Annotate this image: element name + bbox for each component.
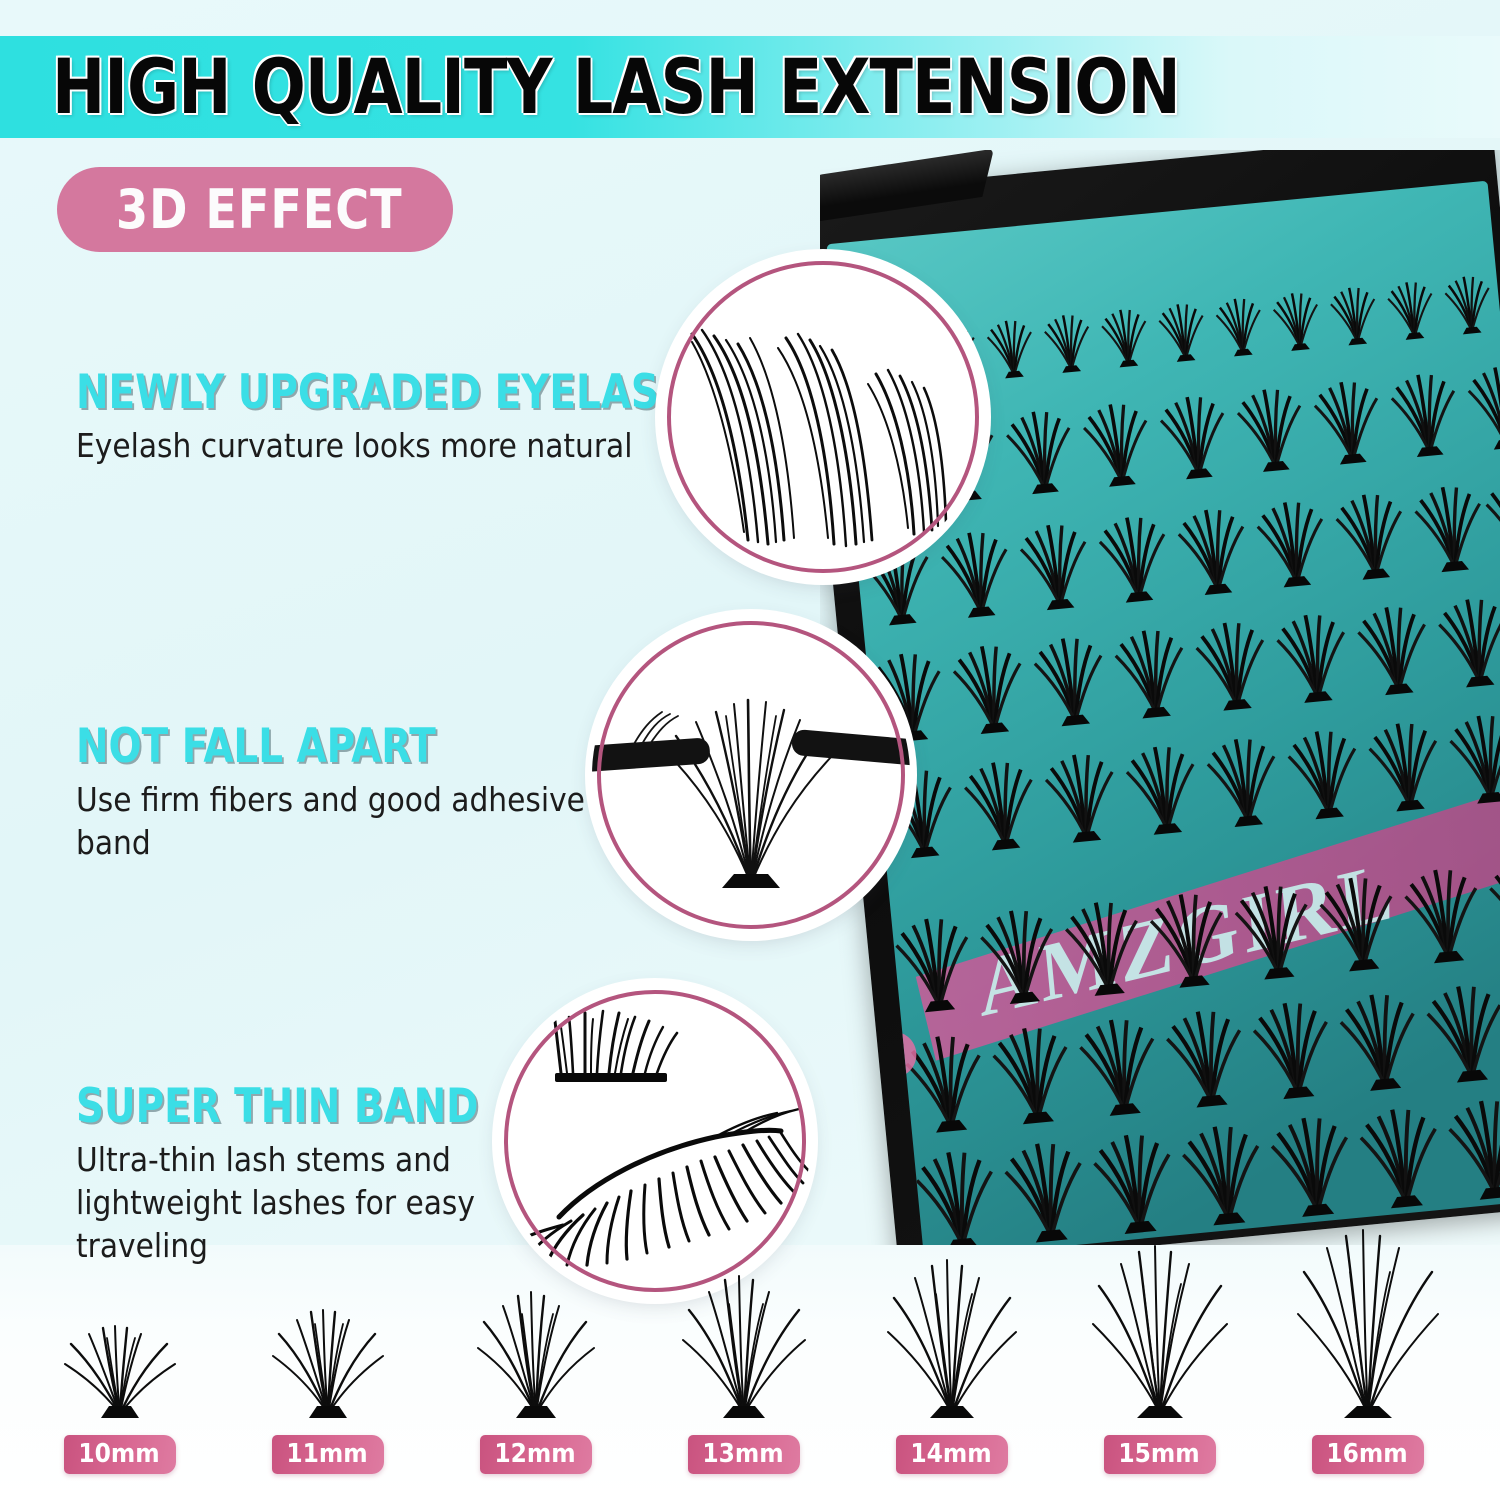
infographic-page: AMZGIRL A — [0, 0, 1500, 1500]
lash-cluster-icon — [253, 1284, 403, 1427]
lash-fan-16mm — [1278, 1222, 1458, 1422]
lash-cluster-icon — [1073, 1236, 1247, 1427]
callout-curved-lash-fibers — [662, 256, 984, 578]
size-label: 11mm — [272, 1435, 383, 1474]
lash-cluster-icon — [868, 1248, 1036, 1427]
lash-fan-10mm — [45, 1294, 195, 1422]
size-chart: 10mm — [0, 1240, 1500, 1500]
feature-block-newly-upgraded: NEWLY UPGRADED EYELASHES Eyelash curvatu… — [76, 368, 716, 467]
lash-fan-14mm — [868, 1248, 1036, 1422]
size-item: 12mm — [436, 1272, 636, 1500]
effect-badge-label: 3D EFFECT — [116, 178, 403, 241]
page-title: HIGH QUALITY LASH EXTENSION — [52, 49, 1180, 125]
size-label: 14mm — [896, 1435, 1007, 1474]
size-item: 10mm — [20, 1294, 220, 1500]
feature-description: Eyelash curvature looks more natural — [76, 424, 676, 467]
lash-fan-11mm — [253, 1284, 403, 1422]
lash-fan-12mm — [458, 1272, 614, 1422]
feature-description: Use firm fibers and good adhesive band — [76, 778, 596, 864]
size-item: 11mm — [228, 1284, 428, 1500]
feature-title: NOT FALL APART — [76, 722, 665, 772]
lash-cluster-icon — [1278, 1222, 1458, 1427]
size-item: 13mm — [644, 1260, 844, 1500]
callout-tweezers-lash-cluster — [592, 616, 910, 934]
tweezers-holding-lash-cluster-icon — [592, 616, 910, 934]
lash-fan-15mm — [1073, 1236, 1247, 1422]
size-label: 12mm — [480, 1435, 591, 1474]
lash-cluster-icon — [45, 1294, 195, 1427]
lash-cluster-icon — [663, 1260, 825, 1427]
feature-title: NEWLY UPGRADED EYELASHES — [76, 368, 665, 418]
header-banner: HIGH QUALITY LASH EXTENSION — [0, 36, 1500, 138]
lash-fan-13mm — [663, 1260, 825, 1422]
size-label: 10mm — [64, 1435, 175, 1474]
curved-lash-fibers-icon — [662, 256, 984, 578]
effect-badge: 3D EFFECT — [57, 167, 453, 252]
size-item: 14mm — [852, 1248, 1052, 1500]
size-item: 16mm — [1268, 1222, 1468, 1500]
size-label: 16mm — [1312, 1435, 1423, 1474]
size-label: 13mm — [688, 1435, 799, 1474]
lash-cluster-icon — [458, 1272, 614, 1427]
size-item: 15mm — [1060, 1236, 1260, 1500]
size-label: 15mm — [1104, 1435, 1215, 1474]
